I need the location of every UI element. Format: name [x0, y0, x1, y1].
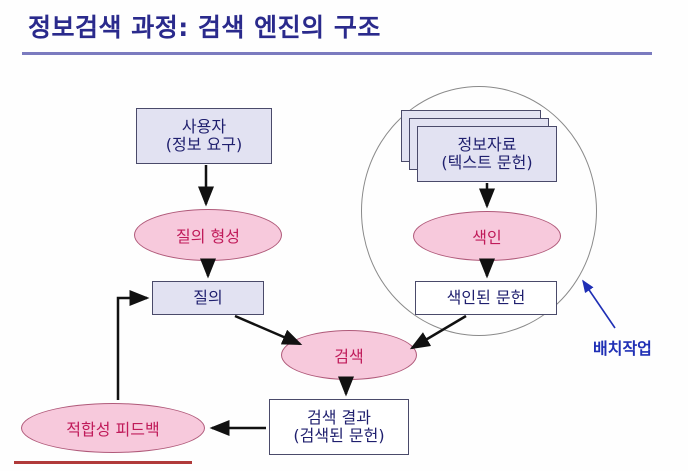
- node-search-result-line1: 검색 결과: [307, 409, 371, 427]
- node-search-label: 검색: [334, 343, 363, 367]
- page-title: 정보검색 과정: 검색 엔진의 구조: [28, 8, 381, 44]
- node-user[interactable]: 사용자 (정보 요구): [136, 108, 272, 164]
- node-indexing[interactable]: 색인: [413, 211, 561, 261]
- node-docs-line2: (텍스트 문헌): [441, 154, 532, 172]
- node-relevance-feedback[interactable]: 적합성 피드백: [21, 403, 205, 453]
- node-user-line1: 사용자: [182, 118, 226, 136]
- node-docs-line1: 정보자료: [458, 136, 517, 154]
- node-query-formation-label: 질의 형성: [176, 223, 240, 247]
- node-search-result[interactable]: 검색 결과 (검색된 문헌): [269, 399, 409, 455]
- edge-relevance-feedback-to-query: [118, 298, 147, 400]
- node-user-line2: (정보 요구): [166, 136, 242, 154]
- node-query[interactable]: 질의: [152, 281, 264, 315]
- node-search[interactable]: 검색: [281, 330, 417, 380]
- node-docs[interactable]: 정보자료 (텍스트 문헌): [417, 126, 557, 182]
- node-indexing-label: 색인: [472, 224, 501, 248]
- slide-canvas: 정보검색 과정: 검색 엔진의 구조 사용자 (정보 요구) 정보자료 (텍스트…: [0, 0, 688, 471]
- node-relevance-feedback-label: 적합성 피드백: [66, 416, 159, 440]
- annotation-batch-process: 배치작업: [593, 335, 652, 359]
- bottom-divider: [14, 461, 192, 464]
- title-divider: [22, 52, 652, 55]
- annotation-pointer-line: [583, 281, 615, 328]
- node-search-result-line2: (검색된 문헌): [293, 427, 384, 445]
- edge-query-to-search: [235, 316, 300, 344]
- node-indexed-docs[interactable]: 색인된 문헌: [415, 281, 557, 315]
- node-query-formation[interactable]: 질의 형성: [134, 209, 282, 261]
- node-indexed-docs-label: 색인된 문헌: [447, 289, 526, 307]
- node-query-label: 질의: [193, 289, 222, 307]
